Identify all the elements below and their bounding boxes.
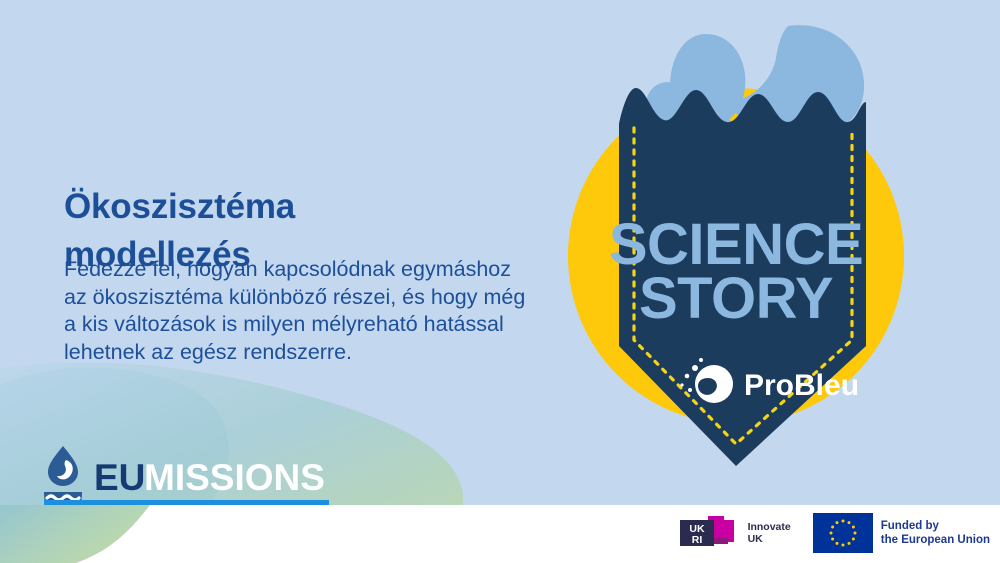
blob-footer-overlay: [0, 505, 400, 563]
ukri-label: Innovate UK: [748, 521, 791, 546]
eu-missions-prefix: EU: [94, 457, 145, 498]
ukri-logo-icon: UK RI: [678, 516, 740, 550]
funder-logos: UK RI Innovate UK: [678, 511, 990, 555]
funder-ukri-innovate-uk: UK RI Innovate UK: [678, 516, 791, 550]
blob-footer-shape: [0, 505, 150, 563]
svg-text:RI: RI: [691, 534, 702, 546]
science-story-badge: SCIENCE STORY ProBleu: [556, 16, 916, 476]
eu-missions-title: MISSIONS: [144, 457, 325, 498]
slide-canvas: Ökoszisztéma modellezés Fedezze fel, hog…: [0, 0, 1000, 563]
badge-line-2: STORY: [639, 266, 833, 331]
funder-european-union: Funded by the European Union: [813, 513, 990, 553]
eu-flag-icon: [813, 513, 873, 553]
probleu-wordmark: ProBleu: [744, 369, 859, 402]
eu-funding-label: Funded by the European Union: [881, 519, 990, 547]
body-text: Fedezze fel, hogyan kapcsolódnak egymásh…: [64, 256, 544, 366]
